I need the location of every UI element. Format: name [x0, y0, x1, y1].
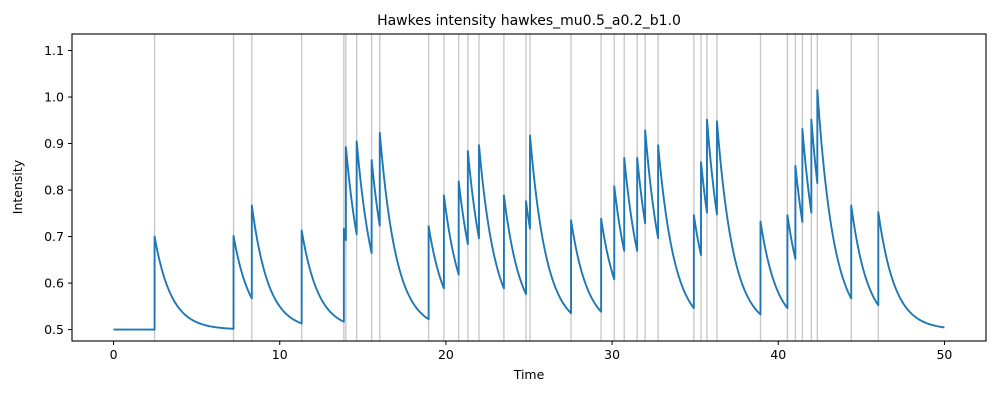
- y-tick-label: 1.0: [44, 90, 64, 105]
- y-tick-label: 0.7: [44, 229, 64, 244]
- y-tick-label: 0.8: [44, 183, 64, 198]
- figure-background: [0, 0, 1000, 400]
- x-tick-label: 30: [604, 347, 620, 362]
- y-tick-label: 0.6: [44, 276, 64, 291]
- hawkes-intensity-chart: Hawkes intensity hawkes_mu0.5_a0.2_b1.0 …: [0, 0, 1000, 400]
- chart-title: Hawkes intensity hawkes_mu0.5_a0.2_b1.0: [377, 13, 681, 29]
- y-tick-label: 1.1: [44, 43, 64, 58]
- y-tick-label: 0.5: [44, 322, 64, 337]
- figure-canvas: Hawkes intensity hawkes_mu0.5_a0.2_b1.0 …: [0, 0, 1000, 400]
- x-tick-label: 10: [272, 347, 288, 362]
- x-tick-label: 0: [110, 347, 118, 362]
- x-tick-label: 50: [936, 347, 952, 362]
- y-axis-label: Intensity: [10, 159, 25, 214]
- x-tick-label: 20: [438, 347, 454, 362]
- x-tick-label: 40: [770, 347, 786, 362]
- x-axis-label: Time: [513, 367, 545, 382]
- y-tick-label: 0.9: [44, 136, 64, 151]
